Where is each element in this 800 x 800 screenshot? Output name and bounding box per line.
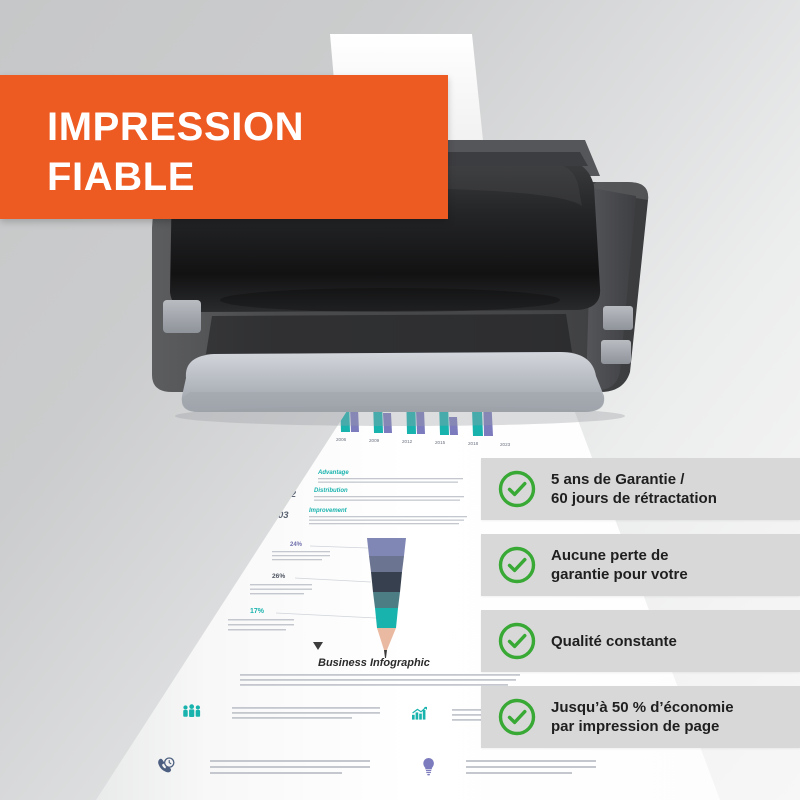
printout-section-title: Business Infographic xyxy=(318,657,430,669)
feature-line-2: par impression de page xyxy=(551,717,734,736)
svg-text:Advantage: Advantage xyxy=(317,470,349,476)
headline-line-2: FIABLE xyxy=(47,152,304,202)
feature-line-1: Jusqu’à 50 % d’économie xyxy=(551,698,734,717)
svg-text:37%: 37% xyxy=(450,355,461,361)
printout-paragraph-block xyxy=(335,378,495,388)
check-circle-icon xyxy=(497,697,537,737)
feature-card[interactable]: Qualité constante xyxy=(481,610,800,672)
svg-text:2015: 2015 xyxy=(435,440,446,445)
feature-card[interactable]: Jusqu’à 50 % d’économie par impression d… xyxy=(481,686,800,748)
svg-text:26%: 26% xyxy=(272,573,285,580)
feature-line-1: Aucune perte de xyxy=(551,546,688,565)
svg-text:35%: 35% xyxy=(393,355,404,361)
feature-card-list: 5 ans de Garantie / 60 jours de rétracta… xyxy=(481,458,800,762)
headline-text: IMPRESSION FIABLE xyxy=(47,102,304,202)
product-marketing-banner: Banner Infographics 35% 37% xyxy=(0,0,800,800)
feature-line-1: Qualité constante xyxy=(551,632,677,651)
svg-text:2009: 2009 xyxy=(369,438,380,443)
headline-banner: IMPRESSION FIABLE xyxy=(0,75,448,219)
svg-text:2023: 2023 xyxy=(500,442,511,447)
feature-card[interactable]: 5 ans de Garantie / 60 jours de rétracta… xyxy=(481,458,800,520)
svg-text:Step 02: Step 02 xyxy=(342,394,359,399)
feature-card-text: Qualité constante xyxy=(551,632,677,651)
feature-card[interactable]: Aucune perte de garantie pour votre xyxy=(481,534,800,596)
feature-card-text: Aucune perte de garantie pour votre xyxy=(551,546,688,584)
check-circle-icon xyxy=(497,545,537,585)
headline-line-1: IMPRESSION xyxy=(47,105,304,149)
svg-text:01: 01 xyxy=(292,470,302,480)
svg-text:03: 03 xyxy=(278,510,289,521)
svg-text:02: 02 xyxy=(286,489,296,499)
feature-card-text: Jusqu’à 50 % d’économie par impression d… xyxy=(551,698,734,736)
check-circle-icon xyxy=(497,621,537,661)
svg-text:Distribution: Distribution xyxy=(314,488,348,494)
feature-line-2: garantie pour votre xyxy=(551,565,688,584)
feature-card-text: 5 ans de Garantie / 60 jours de rétracta… xyxy=(551,470,717,508)
feature-line-2: 60 jours de rétractation xyxy=(551,489,717,508)
feature-line-1: 5 ans de Garantie / xyxy=(551,470,717,489)
svg-text:2018: 2018 xyxy=(468,441,479,446)
svg-text:Step 01: Step 01 xyxy=(342,388,359,393)
svg-text:17%: 17% xyxy=(250,608,265,615)
check-circle-icon xyxy=(497,469,537,509)
svg-text:Improvement: Improvement xyxy=(309,508,348,514)
svg-text:24%: 24% xyxy=(290,542,303,548)
svg-text:2006: 2006 xyxy=(336,437,347,442)
bar-chart-legend: Step 01 Step 02 xyxy=(332,388,359,399)
svg-text:2012: 2012 xyxy=(402,439,413,444)
printout-body-text xyxy=(240,674,520,686)
